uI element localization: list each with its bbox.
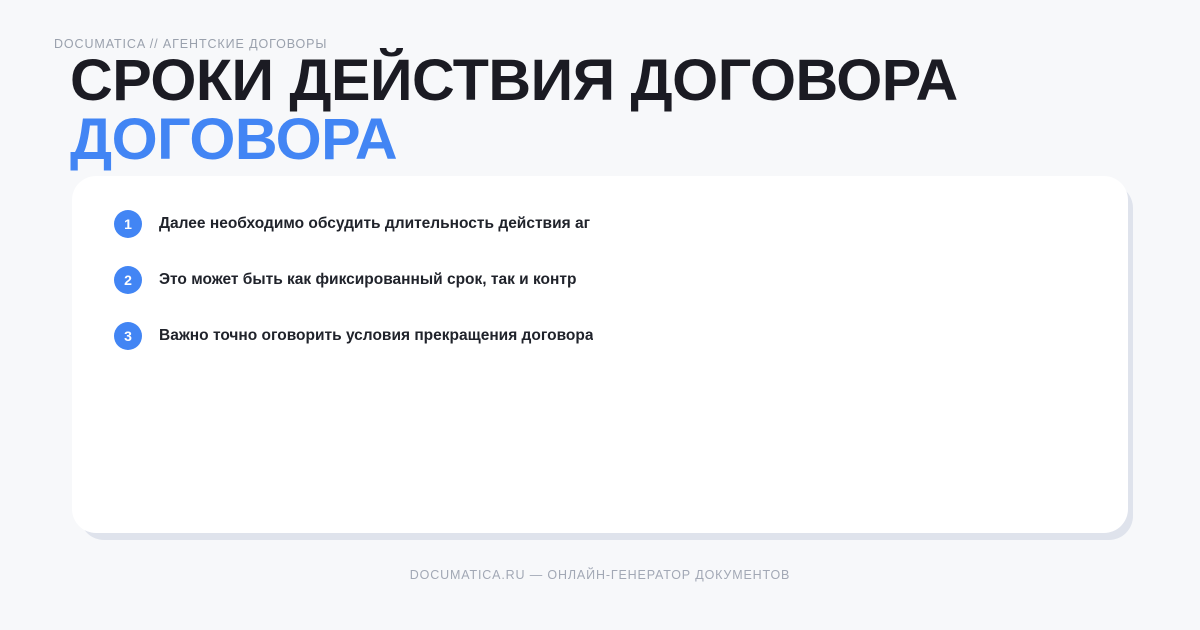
- bullet-text: Далее необходимо обсудить длительность д…: [159, 215, 590, 234]
- list-item: 2 Это может быть как фиксированный срок,…: [114, 266, 1088, 294]
- list-item: 3 Важно точно оговорить условия прекраще…: [114, 322, 1088, 350]
- page-title-line-primary: СРОКИ ДЕЙСТВИЯ ДОГОВОРА: [70, 54, 1151, 107]
- bullet-number-badge: 3: [114, 322, 142, 350]
- bullet-number-badge: 1: [114, 210, 142, 238]
- page-title: СРОКИ ДЕЙСТВИЯ ДОГОВОРА ДОГОВОРА: [70, 54, 1130, 167]
- bullet-text: Важно точно оговорить условия прекращени…: [159, 327, 593, 346]
- slide-canvas: DOCUMATICA // АГЕНТСКИЕ ДОГОВОРЫ СРОКИ Д…: [0, 0, 1200, 630]
- footer-attribution: DOCUMATICA.RU — ОНЛАЙН-ГЕНЕРАТОР ДОКУМЕН…: [0, 569, 1200, 582]
- page-title-line-accent: ДОГОВОРА: [70, 113, 1151, 166]
- bullet-number-badge: 2: [114, 266, 142, 294]
- breadcrumb: DOCUMATICA // АГЕНТСКИЕ ДОГОВОРЫ: [54, 38, 327, 51]
- bullet-list: 1 Далее необходимо обсудить длительность…: [114, 210, 1088, 350]
- list-item: 1 Далее необходимо обсудить длительность…: [114, 210, 1088, 238]
- content-card: 1 Далее необходимо обсудить длительность…: [72, 176, 1128, 533]
- bullet-text: Это может быть как фиксированный срок, т…: [159, 271, 576, 290]
